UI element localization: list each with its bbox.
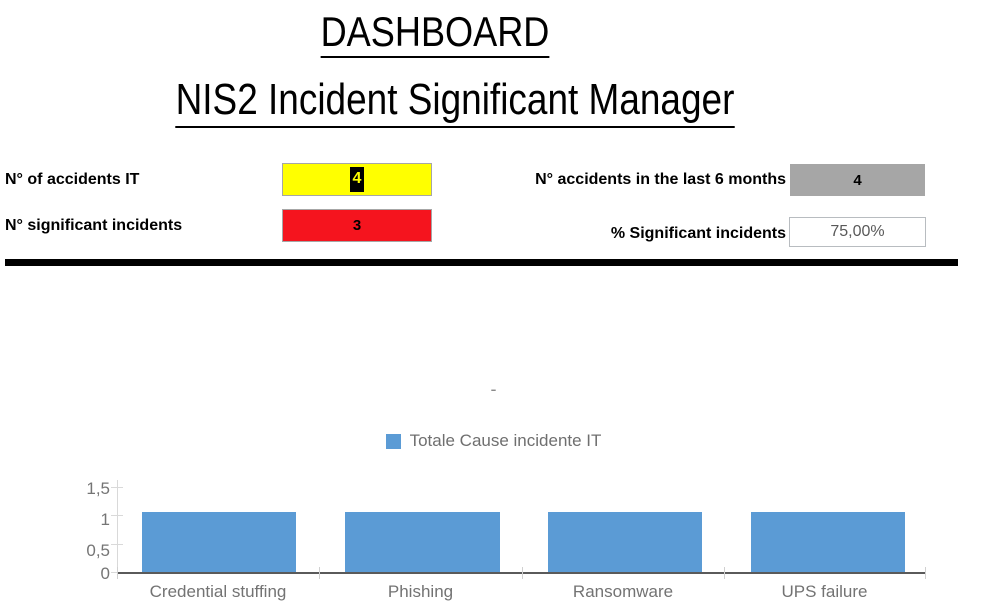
- kpi-value-pct-significant-incidents-cell[interactable]: 75,00%: [789, 217, 926, 247]
- x-axis-tick-mark: [724, 567, 725, 579]
- x-axis-tick-mark: [522, 567, 523, 579]
- kpi-label-accidents-it: N° of accidents IT: [5, 170, 139, 190]
- bar-credential-stuffing[interactable]: [142, 512, 296, 572]
- page-subtitle: NIS2 Incident Significant Manager: [73, 75, 837, 125]
- kpi-value-significant-incidents: 3: [353, 218, 361, 233]
- y-axis-line: [117, 480, 118, 573]
- x-axis-category-label: Ransomware: [522, 582, 724, 602]
- kpi-label-pct-significant-incidents: % Significant incidents: [458, 224, 786, 244]
- x-axis-tick-mark: [925, 567, 926, 579]
- bar-ups-failure[interactable]: [751, 512, 905, 572]
- kpi-value-accidents-last-6-months: 4: [853, 173, 861, 188]
- chart-plot-area: 1,5 1 0,5 0 Credential stuffing Phishing…: [0, 275, 987, 616]
- x-axis-category-label: Credential stuffing: [117, 582, 319, 602]
- y-axis-tick-mark: [111, 487, 123, 488]
- kpi-value-accidents-it: 4: [350, 167, 365, 192]
- bar-ransomware[interactable]: [548, 512, 702, 572]
- page-subtitle-text: NIS2 Incident Significant Manager: [176, 75, 735, 128]
- section-divider: [5, 259, 958, 266]
- y-axis-tick-label: 0,5: [72, 542, 110, 559]
- y-axis-tick-label: 1,5: [72, 480, 110, 497]
- kpi-label-accidents-last-6-months: N° accidents in the last 6 months: [458, 170, 786, 190]
- incident-causes-bar-chart[interactable]: - Totale Cause incidente IT 1,5 1 0,5 0: [0, 275, 987, 616]
- bar-phishing[interactable]: [345, 512, 500, 572]
- kpi-label-significant-incidents: N° significant incidents: [5, 216, 182, 236]
- x-axis-line: [117, 572, 925, 574]
- x-axis-tick-mark: [319, 567, 320, 579]
- y-axis-tick-label: 1: [72, 511, 110, 528]
- x-axis-tick-mark: [117, 567, 118, 579]
- y-axis-tick-mark: [111, 544, 123, 545]
- page-title-text: DASHBOARD: [321, 8, 550, 58]
- y-axis-tick-label: 0: [72, 565, 110, 582]
- kpi-value-pct-significant-incidents: 75,00%: [830, 224, 884, 240]
- kpi-value-accidents-last-6-months-cell[interactable]: 4: [789, 163, 926, 197]
- x-axis-category-label: UPS failure: [724, 582, 925, 602]
- y-axis-tick-mark: [111, 515, 123, 516]
- page-title: DASHBOARD: [61, 8, 809, 56]
- kpi-value-accidents-it-cell[interactable]: 4: [282, 163, 432, 196]
- y-axis-labels: 1,5 1 0,5 0: [72, 275, 110, 616]
- x-axis-category-label: Phishing: [319, 582, 522, 602]
- kpi-value-significant-incidents-cell[interactable]: 3: [282, 209, 432, 242]
